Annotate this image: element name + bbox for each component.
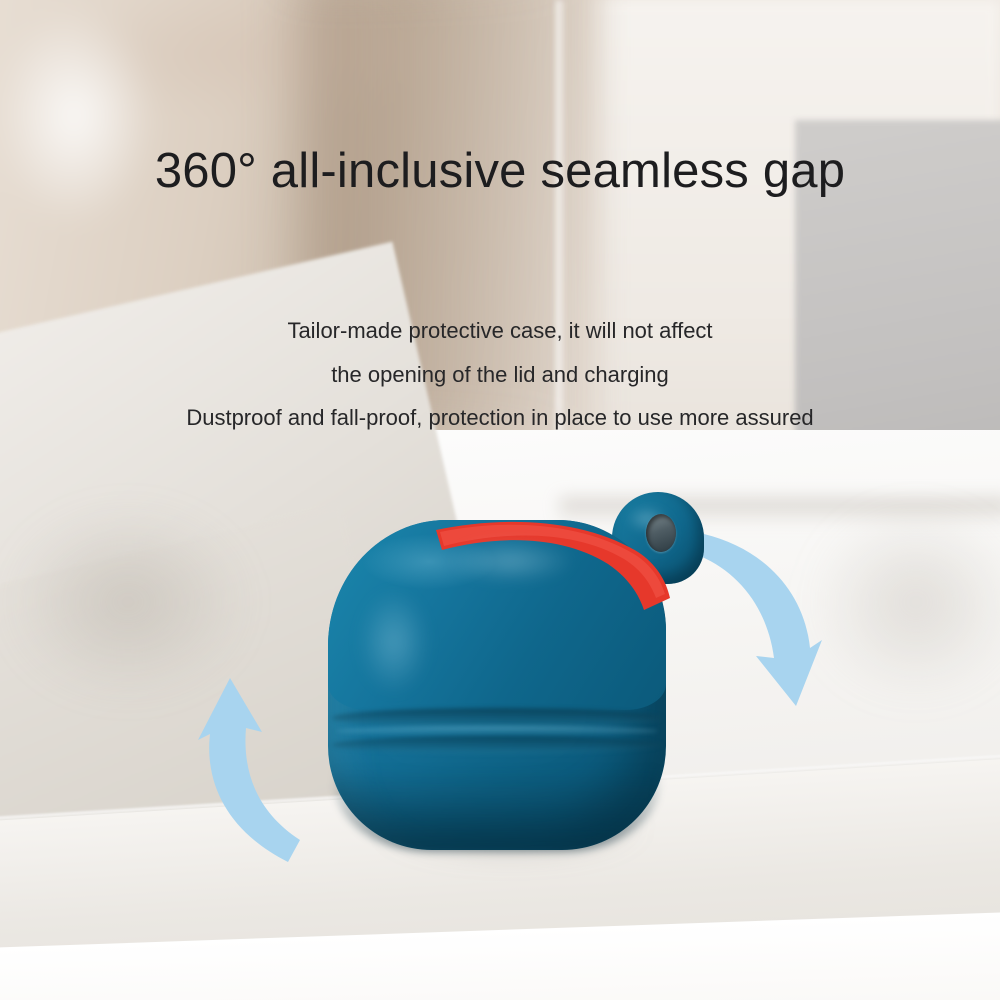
case-seam-groove-upper <box>332 708 662 728</box>
subtext-line-1: Tailor-made protective case, it will not… <box>0 318 1000 344</box>
subtext-line-3: Dustproof and fall-proof, protection in … <box>0 405 1000 431</box>
case-seam-highlight <box>336 726 658 736</box>
case-bottom-shading <box>334 766 660 852</box>
case-highlight-top <box>426 532 596 590</box>
case-seam-groove-lower <box>332 736 662 754</box>
rotate-arrow-left-icon <box>196 648 326 866</box>
product-marketing-image: 360° all-inclusive seamless gap Tailor-m… <box>0 0 1000 1000</box>
subtext-line-2: the opening of the lid and charging <box>0 362 1000 388</box>
lanyard-hole <box>646 514 676 552</box>
headline: 360° all-inclusive seamless gap <box>0 143 1000 199</box>
product-earbud-case <box>316 480 706 870</box>
rotate-arrow-right-icon <box>700 530 824 730</box>
